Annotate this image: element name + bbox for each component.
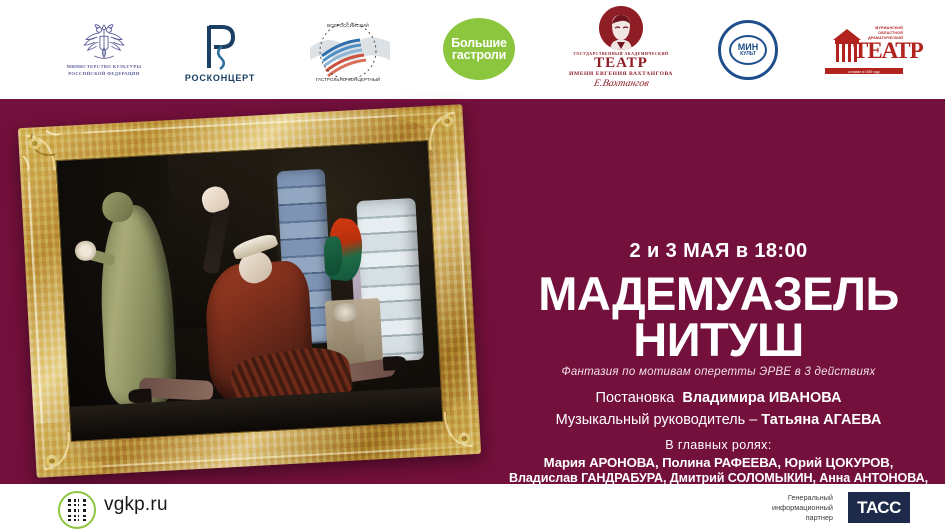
title-line-1: МАДЕМУАЗЕЛЬ — [492, 270, 945, 317]
title-line-2: НИТУШ — [492, 316, 945, 363]
music-director-line: Музыкальный руководитель – Татьяна АГАЕВ… — [492, 412, 945, 428]
svg-text:ВСЕРОССИЙСКИЙ: ВСЕРОССИЙСКИЙ — [327, 21, 369, 28]
logo-vakhtangov-theatre[interactable]: ГОСУДАРСТВЕННЫЙ АКАДЕМИЧЕСКИЙ ТЕАТР ИМЕН… — [548, 6, 694, 89]
logo-rosconcert[interactable]: РОСКОНЦЕРТ — [178, 24, 262, 83]
logo-bar: МИНИСТЕРСТВО КУЛЬТУРЫ РОССИЙСКОЙ ФЕДЕРАЦ… — [0, 0, 945, 99]
logo-ministry-of-culture[interactable]: МИНИСТЕРСТВО КУЛЬТУРЫ РОССИЙСКОЙ ФЕДЕРАЦ… — [52, 20, 156, 78]
music-label: Музыкальный руководитель – — [556, 412, 758, 428]
logo-murmansk-theatre[interactable]: ТЕАТР МУРМАНСКИЙ ОБЛАСТНОЙ ДРАМАТИЧЕСКИЙ… — [818, 20, 910, 76]
production-photo — [56, 140, 444, 442]
vakhtangov-subline: ИМЕНИ ЕВГЕНИЯ ВАХТАНГОВА — [569, 71, 673, 77]
framed-photo — [18, 104, 481, 478]
poster-text-column: 2 и 3 МАЯ в 18:00 МАДЕМУАЗЕЛЬ НИТУШ Фант… — [492, 198, 945, 531]
director-label: Постановка — [596, 390, 675, 406]
music-name: Татьяна АГАЕВА — [761, 412, 881, 428]
bolshie-gastroli-oval: Большиегастроли — [443, 18, 515, 80]
qr-code-icon — [66, 499, 88, 521]
mincult-ring-icon: МИН КУЛЬТ — [718, 20, 778, 80]
vakhtangov-word-teatr: ТЕАТР — [594, 56, 648, 71]
ministry-caption: МИНИСТЕРСТВО КУЛЬТУРЫ РОССИЙСКОЙ ФЕДЕРАЦ… — [67, 64, 142, 78]
vakhtangov-signature: Е.Вахтангов — [592, 78, 649, 89]
rosconcert-label: РОСКОНЦЕРТ — [185, 73, 255, 83]
logo-bolshie-gastroli[interactable]: Большиегастроли — [436, 18, 522, 80]
qr-code[interactable] — [58, 491, 96, 529]
cast-line-2: Владислав ГАНДРАБУРА, Дмитрий СОЛОМЫКИН,… — [492, 471, 945, 485]
website-link[interactable]: vgkp.ru — [104, 494, 168, 516]
tass-label: ТАСС — [857, 498, 901, 518]
murmansk-word: ТЕАТР — [853, 38, 923, 64]
vgkp-circular-icon: ВСЕРОССИЙСКИЙ ГАСТРОЛЬНО-КОНЦЕРТНЫЙ — [308, 18, 392, 84]
footer-bar: vgkp.ru Генеральный информационный партн… — [0, 484, 945, 531]
logo-mincult[interactable]: МИН КУЛЬТ — [710, 20, 786, 80]
murmansk-founded: основан в 1939 году — [825, 70, 903, 74]
genre-line: Фантазия по мотивам оперетты ЭРВЕ в 3 де… — [492, 366, 945, 378]
murmansk-caption: МУРМАНСКИЙ ОБЛАСТНОЙ ДРАМАТИЧЕСКИЙ — [868, 26, 903, 42]
cast-heading: В главных ролях: — [492, 438, 945, 452]
double-headed-eagle-icon — [79, 20, 129, 64]
date-line: 2 и 3 МАЯ в 18:00 — [492, 240, 945, 263]
partner-caption: Генеральный информационный партнер — [772, 493, 833, 523]
poster: МИНИСТЕРСТВО КУЛЬТУРЫ РОССИЙСКОЙ ФЕДЕРАЦ… — [0, 0, 945, 531]
director-line: Постановка Владимира ИВАНОВА — [492, 390, 945, 406]
logo-vgkp[interactable]: ВСЕРОССИЙСКИЙ ГАСТРОЛЬНО-КОНЦЕРТНЫЙ — [300, 18, 400, 84]
murmansk-mark: ТЕАТР МУРМАНСКИЙ ОБЛАСТНОЙ ДРАМАТИЧЕСКИЙ… — [825, 20, 903, 76]
svg-text:ГАСТРОЛЬНО-КОНЦЕРТНЫЙ: ГАСТРОЛЬНО-КОНЦЕРТНЫЙ — [316, 75, 380, 82]
director-name: Владимира ИВАНОВА — [682, 390, 841, 406]
main-panel: 2 и 3 МАЯ в 18:00 МАДЕМУАЗЕЛЬ НИТУШ Фант… — [0, 99, 945, 484]
tass-logo[interactable]: ТАСС — [848, 492, 910, 523]
vakhtangov-portrait-icon — [599, 6, 643, 50]
cast-line-1: Мария АРОНОВА, Полина РАФЕЕВА, Юрий ЦОКУ… — [492, 455, 945, 470]
rosconcert-monogram-icon — [198, 24, 242, 70]
